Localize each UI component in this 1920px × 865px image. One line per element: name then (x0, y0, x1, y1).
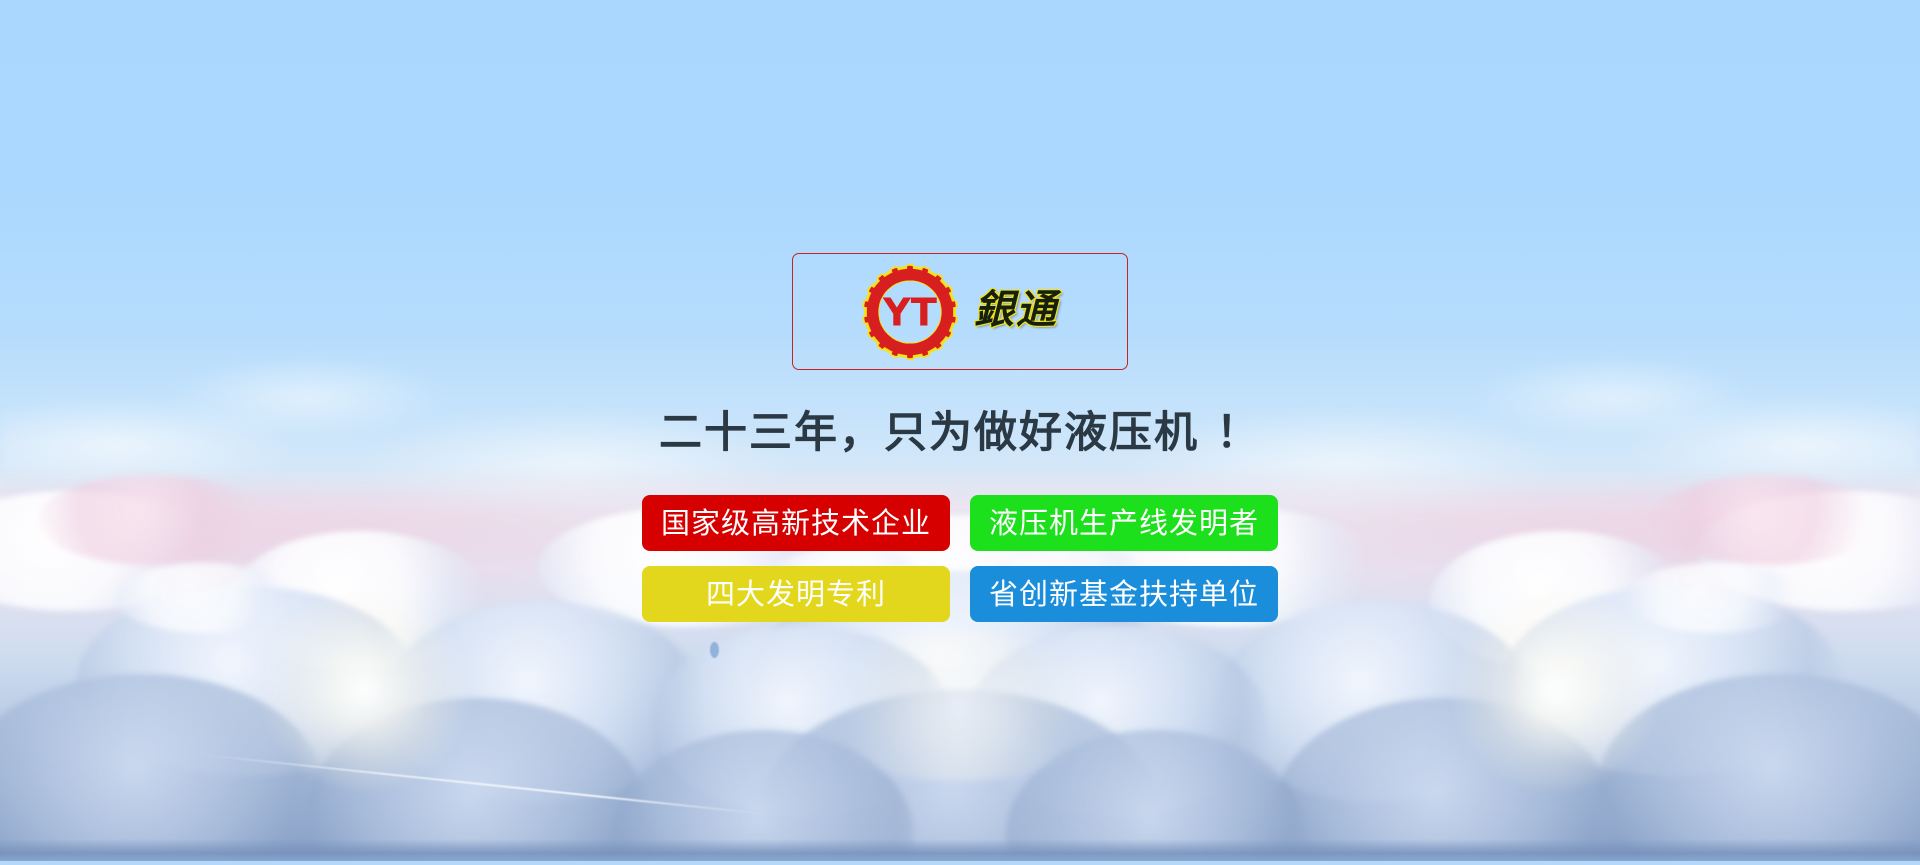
logo-wordmark: 銀通 (974, 290, 1058, 334)
badge-national-hi-tech[interactable]: 国家级高新技术企业 (642, 495, 950, 551)
hero-banner: YT 銀通 二十三年，只为做好液压机 ！ 国家级高新技术企业 液压机生产线发明者… (0, 0, 1920, 865)
badge-four-patents[interactable]: 四大发明专利 (642, 566, 950, 622)
badge-production-line-inventor[interactable]: 液压机生产线发明者 (970, 495, 1278, 551)
yt-gear-logo-icon: YT (862, 264, 958, 360)
hero-tagline: 二十三年，只为做好液压机 ！ (659, 412, 1261, 455)
svg-text:YT: YT (882, 290, 937, 335)
credential-badge-grid: 国家级高新技术企业 液压机生产线发明者 四大发明专利 省创新基金扶持单位 (642, 495, 1278, 622)
badge-province-fund[interactable]: 省创新基金扶持单位 (970, 566, 1278, 622)
hero-content: YT 銀通 二十三年，只为做好液压机 ！ 国家级高新技术企业 液压机生产线发明者… (0, 0, 1920, 865)
company-logo-card[interactable]: YT 銀通 (792, 253, 1128, 370)
